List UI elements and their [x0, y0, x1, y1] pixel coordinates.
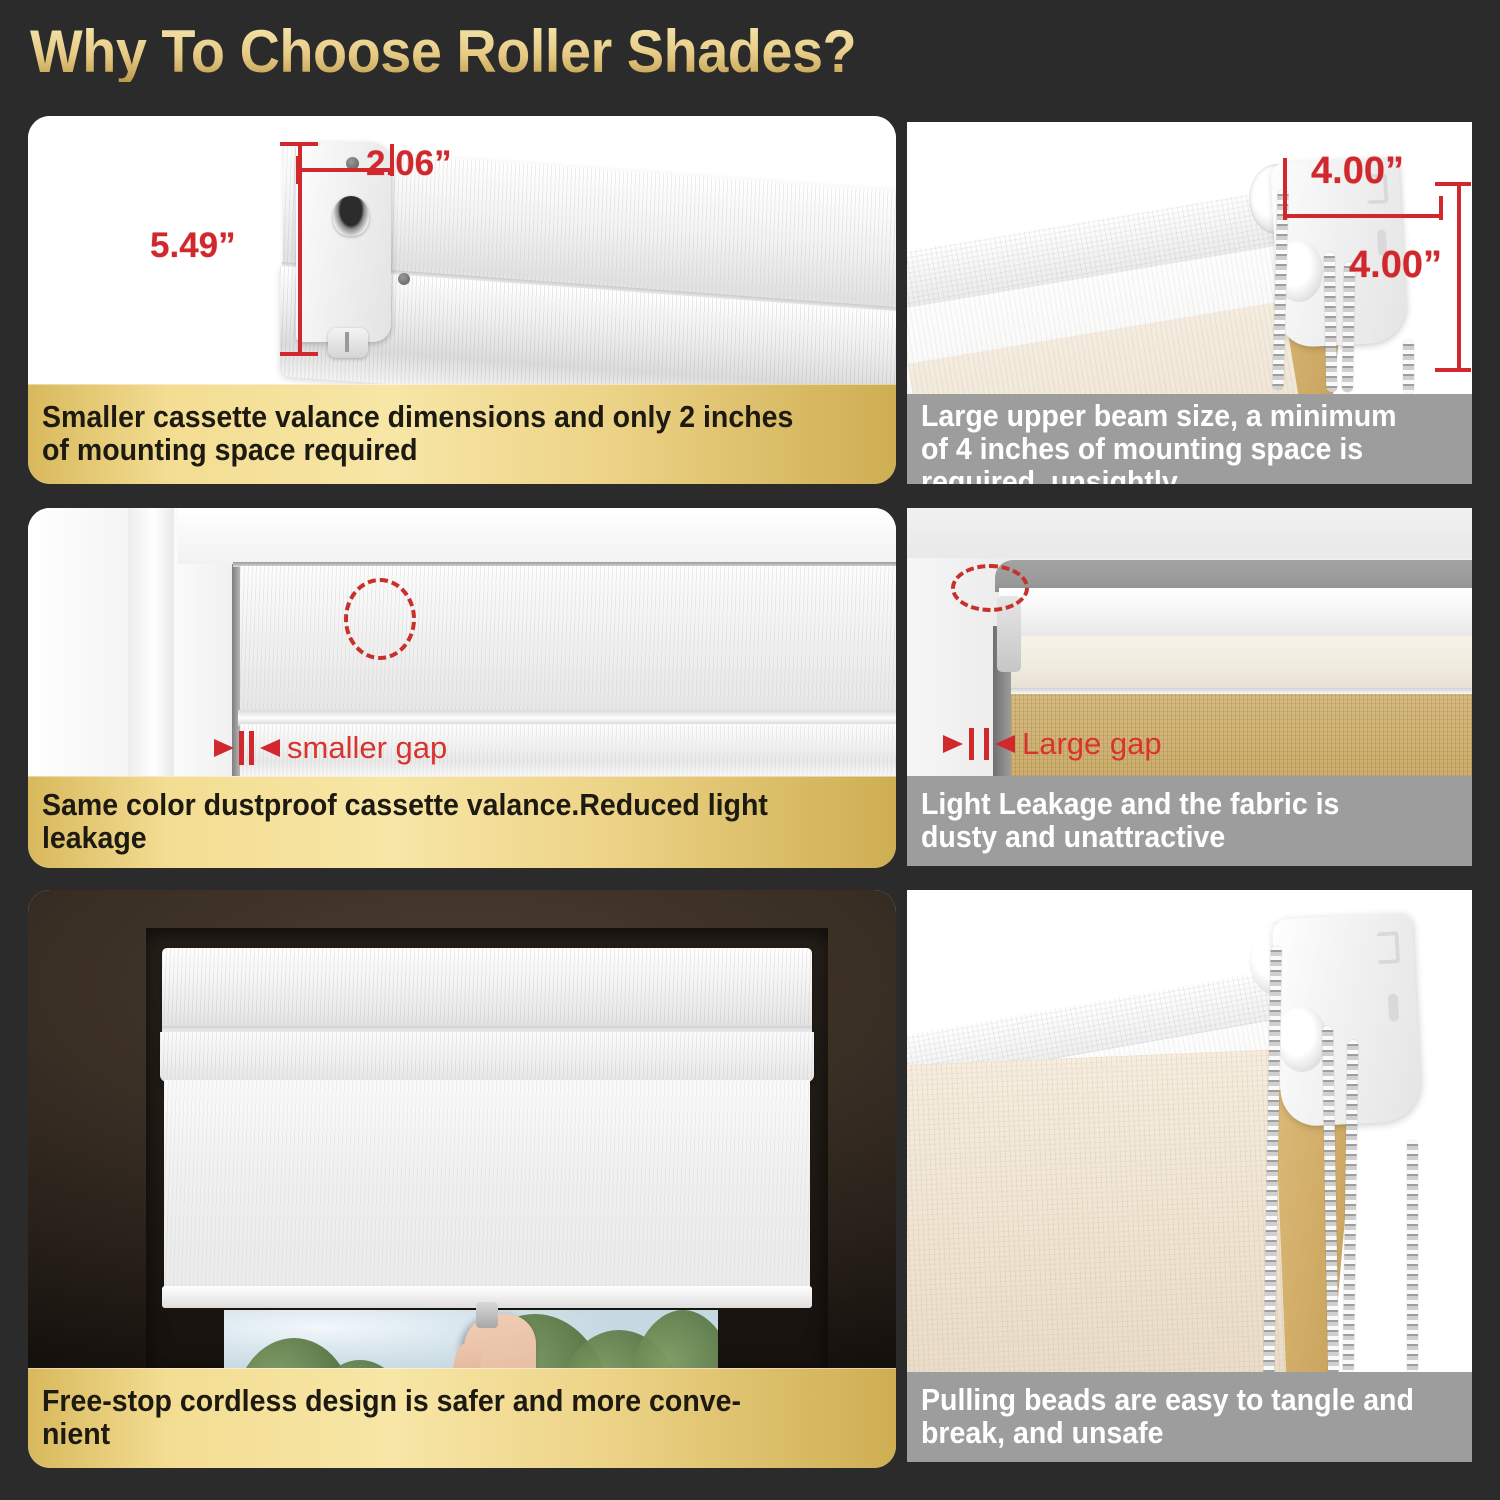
- gap-tick-right: [249, 731, 254, 765]
- panel-light-leakage: Large gap Light Leakage and the fabric i…: [907, 508, 1472, 866]
- bead-chain-4: [1407, 1140, 1418, 1372]
- smaller-gap-callout: smaller gap: [214, 730, 447, 766]
- valance-roller-knob: [333, 196, 369, 236]
- height-dimension-label: 5.49”: [150, 226, 236, 266]
- panel-cassette-valance-dimensions: 2.06” 5.49” Smaller cassette valance dim…: [28, 116, 896, 484]
- tree-foliage: [628, 1310, 718, 1368]
- bead-chain-4: [1403, 340, 1414, 394]
- arrow-left-icon: [260, 739, 280, 757]
- shade-fabric: [164, 1080, 810, 1290]
- screw-mid-icon: [398, 273, 410, 285]
- panel-1-caption-bar: Smaller cassette valance dimensions and …: [28, 384, 896, 484]
- large-gap-callout: Large gap: [943, 726, 1162, 762]
- panel-6-caption-bar: Pulling beads are easy to tangle and bre…: [907, 1372, 1472, 1462]
- panel-2-photo: 4.00” 4.00”: [907, 122, 1472, 394]
- upper-beam-lower: [1005, 636, 1472, 690]
- panel-large-upper-beam: 4.00” 4.00” Large upper beam size, a min…: [907, 122, 1472, 484]
- beam-height-dimension-label: 4.00”: [1349, 244, 1442, 287]
- valance-bottom-clip: [328, 328, 368, 358]
- page-title: Why To Choose Roller Shades?: [30, 22, 856, 82]
- beam-height-cap-bottom: [1435, 368, 1471, 372]
- panel-2-caption-bar: Large upper beam size, a minimum of 4 in…: [907, 394, 1472, 484]
- smaller-gap-label: smaller gap: [287, 730, 447, 766]
- panel-5-caption-bar: Free-stop cordless design is safer and m…: [28, 1368, 896, 1468]
- upper-beam-face: [999, 588, 1472, 638]
- gap-tick-left: [239, 731, 244, 765]
- arrow-right-icon: [943, 735, 963, 753]
- panel-6-photo: [907, 890, 1472, 1372]
- panel-cordless-design: Free-stop cordless design is safer and m…: [28, 890, 896, 1468]
- beam-width-dim-line: [1283, 214, 1443, 218]
- valance-lower: [160, 1032, 814, 1082]
- cassette-valance-face: [240, 566, 896, 714]
- height-dim-cap-bottom: [280, 352, 318, 356]
- beam-width-dimension-label: 4.00”: [1311, 150, 1404, 193]
- panel-2-caption-text: Large upper beam size, a minimum of 4 in…: [921, 400, 1415, 484]
- infographic-root: Why To Choose Roller Shades? 2.06” 5.49”: [0, 0, 1500, 1500]
- panel-dustproof-cassette: smaller gap Same color dustproof cassett…: [28, 508, 896, 868]
- panel-5-caption-text: Free-stop cordless design is safer and m…: [42, 1385, 815, 1451]
- panel-3-caption-bar: Same color dustproof cassette valance.Re…: [28, 776, 896, 868]
- panel-pulling-beads: Pulling beads are easy to tangle and bre…: [907, 890, 1472, 1462]
- gap-tick-right: [984, 728, 989, 760]
- panel-3-photo: smaller gap: [28, 508, 896, 776]
- window-jamb-outer: [128, 508, 176, 776]
- panel-4-caption-text: Light Leakage and the fabric is dusty an…: [921, 788, 1415, 854]
- upper-wall: [907, 508, 1472, 558]
- window-head-trim: [178, 508, 896, 564]
- arrow-right-icon: [214, 739, 234, 757]
- panel-1-photo: 2.06” 5.49”: [28, 116, 896, 386]
- panel-3-caption-text: Same color dustproof cassette valance.Re…: [42, 789, 815, 855]
- shade-pull-handle: [476, 1302, 498, 1328]
- large-gap-label: Large gap: [1022, 726, 1162, 762]
- beam-width-tick-left: [1283, 158, 1287, 220]
- beam-width-tick-right: [1439, 196, 1443, 220]
- height-dim-line: [298, 142, 302, 356]
- panel-1-caption-text: Smaller cassette valance dimensions and …: [42, 401, 815, 467]
- highlight-circle-icon: [951, 564, 1029, 612]
- width-dimension-label: 2.06”: [366, 144, 452, 184]
- highlight-circle-icon: [344, 578, 416, 660]
- panel-4-caption-bar: Light Leakage and the fabric is dusty an…: [907, 776, 1472, 866]
- roller-end-lower: [1277, 1006, 1327, 1072]
- gap-tick-left: [969, 728, 974, 760]
- tree-foliage: [234, 1338, 354, 1368]
- panel-5-photo: [28, 890, 896, 1368]
- panel-6-caption-text: Pulling beads are easy to tangle and bre…: [921, 1384, 1415, 1450]
- beam-height-dim-line: [1457, 182, 1461, 372]
- beam-height-cap-top: [1435, 182, 1471, 186]
- panel-4-photo: Large gap: [907, 508, 1472, 776]
- arrow-left-icon: [995, 735, 1015, 753]
- height-dim-cap-top: [280, 142, 318, 146]
- wall: [28, 508, 136, 776]
- cassette-valance: [162, 948, 812, 1030]
- beige-fabric: [907, 1050, 1287, 1372]
